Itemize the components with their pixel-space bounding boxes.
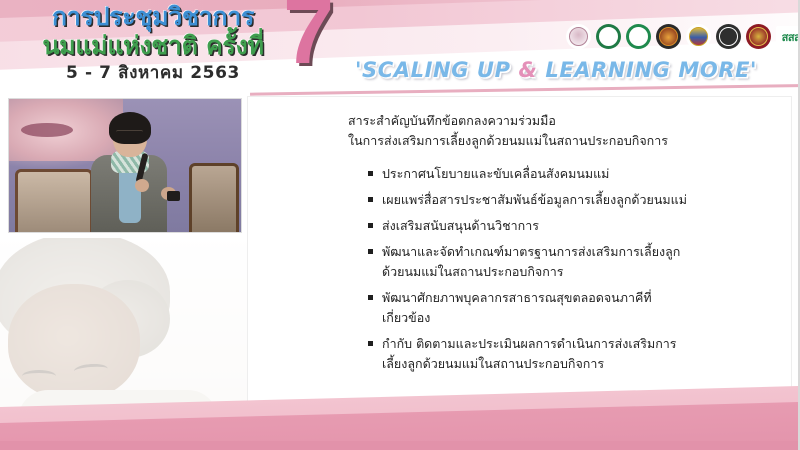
logo-mark <box>749 27 768 46</box>
footer-stripe-base <box>0 441 800 450</box>
bullet-line: พัฒนาและจัดทำเกณฑ์มาตรฐานการส่งเสริมการเ… <box>382 242 778 262</box>
ministry-public-health-logo-1 <box>596 24 621 49</box>
bullet-line: ส่งเสริมสนับสนุนด้านวิชาการ <box>382 216 778 236</box>
list-item: กำกับ ติดตามและประเมินผลการดำเนินการส่งเ… <box>368 334 778 374</box>
logo-mark <box>659 27 678 46</box>
logo-mark <box>569 27 588 46</box>
conference-title-line2: นมแม่แห่งชาติ ครั้งที่ <box>18 33 288 58</box>
list-item: ส่งเสริมสนับสนุนด้านวิชาการ <box>368 216 778 236</box>
red-seal-logo <box>746 24 771 49</box>
bullet-line: ประกาศนโยบายและขับเคลื่อนสังคมนมแม่ <box>382 164 778 184</box>
header-banner: การประชุมวิชาการ นมแม่แห่งชาติ ครั้งที่ … <box>0 0 800 96</box>
stage-chair-right <box>189 163 239 233</box>
list-item: พัฒนาศักยภาพบุคลากรสาธารณสุขตลอดจนภาคีที… <box>368 288 778 328</box>
conference-slogan: 'SCALING UP & LEARNING MORE' <box>355 58 757 82</box>
ministry-public-health-logo-2 <box>626 24 651 49</box>
child-background-photo <box>0 238 250 428</box>
list-item: พัฒนาและจัดทำเกณฑ์มาตรฐานการส่งเสริมการเ… <box>368 242 778 282</box>
square-bullet-icon <box>368 223 373 228</box>
speaker-hair <box>109 112 151 144</box>
square-bullet-icon <box>368 171 373 176</box>
square-bullet-icon <box>368 197 373 202</box>
slogan-prefix: 'SCALING UP <box>355 58 519 82</box>
slogan-ampersand: & <box>519 58 538 82</box>
mahidol-university-logo <box>566 24 591 49</box>
bullet-line: เผยแพร่สื่อสารประชาสัมพันธ์ข้อมูลการเลี้… <box>382 190 778 210</box>
bullet-line: กำกับ ติดตามและประเมินผลการดำเนินการส่งเ… <box>382 334 778 354</box>
content-lead-paragraph: สาระสำคัญบันทึกข้อตกลงความร่วมมือ ในการส… <box>348 111 778 152</box>
bullet-line: พัฒนาศักยภาพบุคลากรสาธารณสุขตลอดจนภาคีที… <box>382 288 778 308</box>
logo-mark <box>719 27 738 46</box>
stage-chair-left <box>15 169 93 233</box>
conference-date: 5 - 7 สิงหาคม 2563 <box>18 65 288 82</box>
square-bullet-icon <box>368 341 373 346</box>
slide-content-inner: สาระสำคัญบันทึกข้อตกลงความร่วมมือ ในการส… <box>348 111 778 380</box>
square-bullet-icon <box>368 249 373 254</box>
presentation-slide: การประชุมวิชาการ นมแม่แห่งชาติ ครั้งที่ … <box>0 0 800 450</box>
conference-title: การประชุมวิชาการ นมแม่แห่งชาติ ครั้งที่ … <box>18 4 288 82</box>
sponsor-logo-row: สสส <box>566 24 800 49</box>
slogan-suffix: LEARNING MORE' <box>537 58 757 82</box>
bullet-line-continued: เกี่ยวข้อง <box>382 308 778 328</box>
content-bullet-list: ประกาศนโยบายและขับเคลื่อนสังคมนมแม่ เผยแ… <box>348 164 778 374</box>
logo-mark <box>689 27 708 46</box>
bullet-line-continued: เลี้ยงลูกด้วยนมแม่ในสถานประกอบกิจการ <box>382 354 778 374</box>
thai-emblem-logo <box>686 24 711 49</box>
list-item: เผยแพร่สื่อสารประชาสัมพันธ์ข้อมูลการเลี้… <box>368 190 778 210</box>
logo-mark <box>599 27 618 46</box>
royal-crown-logo <box>656 24 681 49</box>
speaker-hand-left <box>135 179 149 192</box>
logo-mark <box>629 27 648 46</box>
presentation-clicker <box>167 191 180 201</box>
square-bullet-icon <box>368 295 373 300</box>
speaker-glasses <box>116 130 143 138</box>
content-lead-line1: สาระสำคัญบันทึกข้อตกลงความร่วมมือ <box>348 111 778 131</box>
child-eye-right <box>74 363 109 377</box>
content-lead-line2: ในการส่งเสริมการเลี้ยงลูกด้วยนมแม่ในสถาน… <box>348 131 778 151</box>
list-item: ประกาศนโยบายและขับเคลื่อนสังคมนมแม่ <box>368 164 778 184</box>
speaker-video-frame[interactable] <box>8 98 242 233</box>
slide-content-panel: สาระสำคัญบันทึกข้อตกลงความร่วมมือ ในการส… <box>247 96 792 416</box>
conference-title-line1: การประชุมวิชาการ <box>18 4 288 29</box>
child-eye-left <box>22 370 56 382</box>
stage-backdrop-poster <box>8 98 123 161</box>
dark-circular-logo <box>716 24 741 49</box>
edition-number: 7 <box>283 0 334 78</box>
child-face <box>8 284 140 400</box>
thaihealth-logo: สสส <box>776 26 800 48</box>
bullet-line-continued: ด้วยนมแม่ในสถานประกอบกิจการ <box>382 262 778 282</box>
